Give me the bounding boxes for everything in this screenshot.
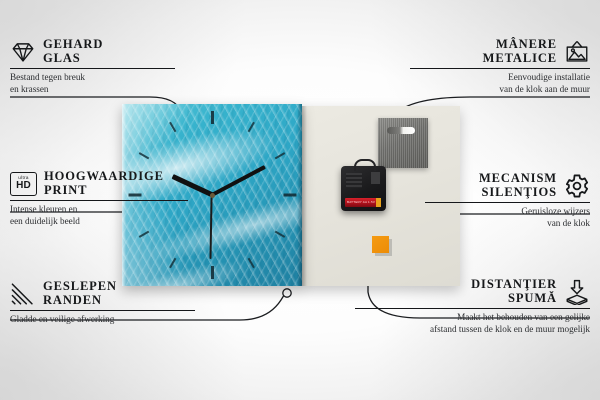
feature-title: GESLEPEN RANDEN [43,280,117,307]
feature-header: ultra HD HOOGWAARDIGE PRINT [10,170,188,197]
feature-hoogwaardige-print: ultra HD HOOGWAARDIGE PRINT Intense kleu… [10,170,188,227]
feature-title: HOOGWAARDIGE PRINT [44,170,164,197]
feature-title: MECANISM SILENŢIOS [479,172,557,199]
clock-center-cap [210,193,215,198]
feature-header: GESLEPEN RANDEN [10,280,195,307]
clock-tick [248,122,255,133]
feature-desc-line2: en krassen [10,84,175,95]
clock-mechanism: BATTERY AA 1.5V [341,166,386,211]
feature-desc-line2: van de klok aan de muur [410,84,590,95]
feature-header: MÂNERE METALICE [410,38,590,65]
metal-hanger-plate [378,118,428,168]
clock-tick [275,231,286,238]
feature-desc-line1: Maakt het behouden van een gelijke [355,312,590,323]
picture-hanger-icon [564,39,590,65]
feature-distantier-spuma: DISTANŢIER SPUMĂ Maakt het behouden van … [355,278,590,335]
feature-title: DISTANŢIER SPUMĂ [471,278,557,305]
battery: BATTERY AA 1.5V [345,198,380,207]
feature-desc-line2: afstand tussen de klok en de muur mogeli… [355,324,590,335]
feature-header: DISTANŢIER SPUMĂ [355,278,590,305]
infographic-canvas: BATTERY AA 1.5V [0,0,600,400]
clock-tick [139,231,150,238]
mechanism-label-area [346,173,362,188]
bevelled-edge-icon [10,281,36,307]
feature-desc-line1: Gladde en veilige afwerking [10,314,195,325]
feature-divider [10,200,188,201]
feature-desc-line2: een duidelijk beeld [10,216,188,227]
clock-tick [284,194,297,197]
ultra-hd-icon: ultra HD [10,172,37,196]
clock-tick [248,258,255,269]
feature-title: MÂNERE METALICE [483,38,557,65]
foam-spacer [372,236,389,253]
connector-dot-geslepen-randen [283,289,291,297]
clock-tick [169,122,176,133]
feature-divider [355,308,590,309]
feature-desc-line1: Geruisloze wijzers [425,206,590,217]
hanger-keyhole-slot [387,127,415,134]
feature-geslepen-randen: GESLEPEN RANDEN Gladde en veilige afwerk… [10,280,195,326]
feature-divider [410,68,590,69]
clock-tick [211,266,214,279]
feature-title: GEHARD GLAS [43,38,103,65]
ultra-hd-icon-bottom-label: HD [16,181,31,191]
feature-desc-line1: Eenvoudige installatie [410,72,590,83]
feature-divider [10,310,195,311]
foam-spacer-icon [564,279,590,305]
gear-icon [564,173,590,199]
feature-header: GEHARD GLAS [10,38,175,65]
feature-manere-metalice: MÂNERE METALICE Eenvoudige installatie v… [410,38,590,95]
mechanism-switch [371,172,380,184]
feature-header: MECANISM SILENŢIOS [425,172,590,199]
feature-divider [10,68,175,69]
feature-desc-line1: Intense kleuren en [10,204,188,215]
feature-divider [425,202,590,203]
clock-tick [275,152,286,159]
clock-tick [169,258,176,269]
feature-desc-line1: Bestand tegen breuk [10,72,175,83]
clock-tick [139,152,150,159]
feature-gehard-glas: GEHARD GLAS Bestand tegen breuk en krass… [10,38,175,95]
mechanism-hanging-loop [354,159,376,171]
feature-desc-line2: van de klok [425,218,590,229]
battery-label: BATTERY AA 1.5V [347,200,375,204]
diamond-icon [10,39,36,65]
feature-mecanism-silentios: MECANISM SILENŢIOS Geruisloze wijzers va… [425,172,590,229]
battery-terminal [376,198,381,207]
clock-tick [211,111,214,124]
